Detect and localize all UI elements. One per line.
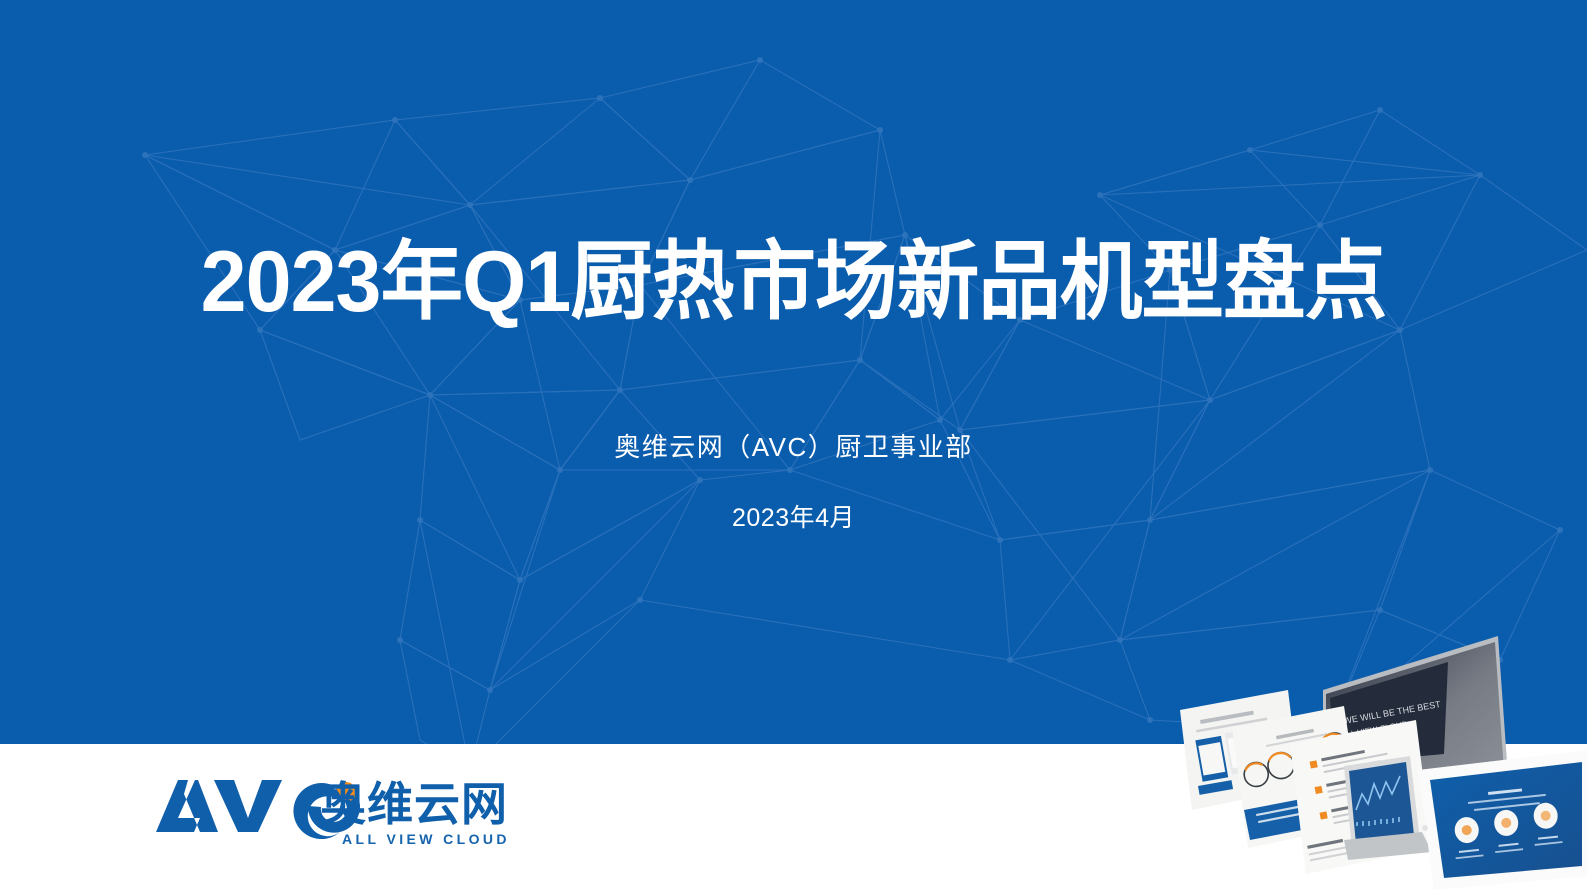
- page-title: 2023年Q1厨热市场新品机型盘点: [32, 236, 1556, 329]
- logo-chinese-name: 奥维云网: [320, 778, 508, 830]
- subtitle-department: 奥维云网（AVC）厨卫事业部: [0, 430, 1587, 464]
- logo-tagline: ALL VIEW CLOUD: [342, 831, 510, 847]
- date-block: 2023年4月: [0, 502, 1587, 534]
- title-block: 2023年Q1厨热市场新品机型盘点: [0, 236, 1587, 329]
- publication-date: 2023年4月: [0, 502, 1587, 534]
- avc-logo: 奥维云网 ALL VIEW CLOUD: [148, 770, 548, 850]
- subtitle-block: 奥维云网（AVC）厨卫事业部: [0, 430, 1587, 464]
- low-poly-world-map-pattern: [0, 0, 1587, 744]
- blue-background-panel: [0, 0, 1587, 744]
- cover-slide: 2023年Q1厨热市场新品机型盘点 奥维云网（AVC）厨卫事业部 2023年4月: [0, 0, 1587, 892]
